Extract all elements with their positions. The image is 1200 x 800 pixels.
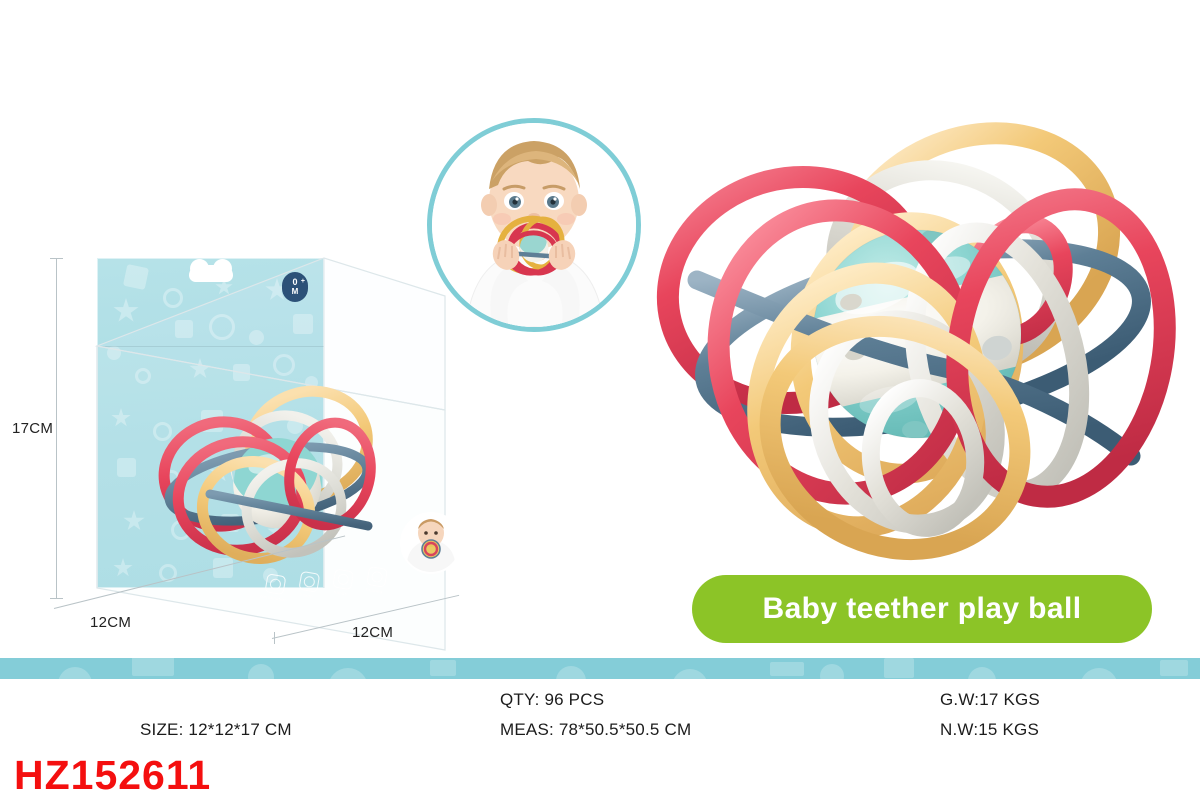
feature-hearing: hearing: [361, 565, 391, 595]
feature-label: hearing: [361, 586, 387, 595]
hero-product-photo: [645, 100, 1185, 570]
height-dim-tick-top: [50, 258, 63, 259]
spec-table: SIZE: 12*12*17 CM QTY: 96 PCS MEAS: 78*5…: [0, 684, 1200, 748]
age-badge-age: 0: [292, 278, 297, 287]
spec-qty: QTY: 96 PCS: [500, 690, 604, 710]
hands-icon: [332, 568, 354, 590]
depth-dim-tick: [274, 632, 275, 644]
vision-icon: [298, 571, 320, 593]
age-badge: 0 + M: [282, 272, 308, 302]
hearing-icon: [366, 566, 388, 588]
feature-label: hands: [327, 588, 353, 597]
product-spec-sheet: 17CM: [0, 0, 1200, 800]
spec-nw: N.W:15 KGS: [940, 720, 1039, 740]
feature-vision: vision: [293, 570, 323, 600]
coordination-icon: [264, 573, 286, 595]
feature-label: vision: [293, 591, 319, 600]
product-title: Baby teether play ball: [763, 592, 1082, 626]
spec-gw: G.W:17 KGS: [940, 690, 1040, 710]
card-fold-crease: [97, 346, 324, 347]
feature-hands: hands: [327, 568, 357, 598]
product-code: HZ152611: [14, 752, 211, 799]
hang-hole-icon: [189, 265, 233, 282]
height-dimension-line: [56, 258, 57, 598]
height-dimension-label: 17CM: [12, 420, 53, 437]
age-badge-unit: M: [292, 288, 299, 296]
depth-dimension-label: 12CM: [352, 624, 393, 641]
age-badge-plus: +: [301, 278, 305, 285]
width-dimension-label: 12CM: [90, 614, 131, 631]
baby-photo-circle: [427, 118, 641, 332]
divider-band: [0, 658, 1200, 679]
box-inset-baby-photo: [400, 512, 462, 574]
package-illustration: 17CM: [40, 240, 480, 660]
feature-label: coordination: [259, 593, 285, 602]
feature-coordination: coordination: [259, 573, 289, 603]
height-dim-tick-bottom: [50, 598, 63, 599]
product-title-pill: Baby teether play ball: [692, 575, 1152, 643]
spec-meas: MEAS: 78*50.5*50.5 CM: [500, 720, 691, 740]
spec-size: SIZE: 12*12*17 CM: [140, 720, 292, 740]
